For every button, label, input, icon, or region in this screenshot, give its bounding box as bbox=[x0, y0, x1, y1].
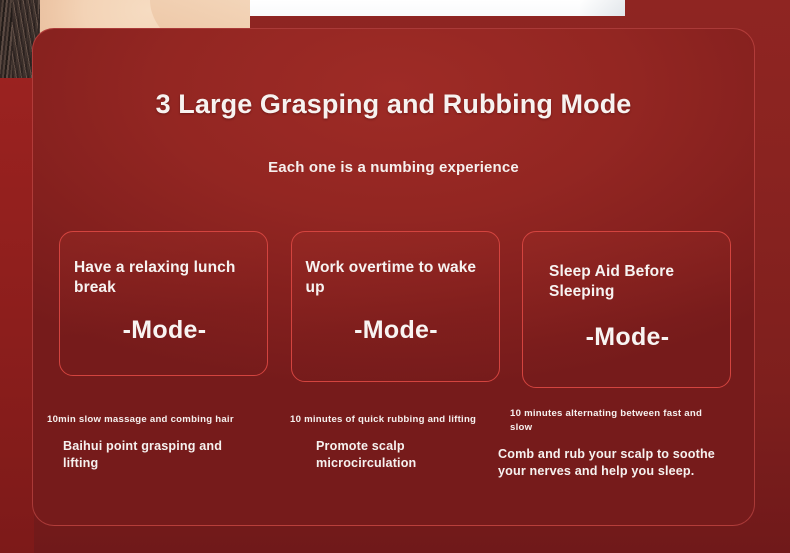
page-subtitle: Each one is a numbing experience bbox=[33, 159, 754, 176]
mode-card-sleep-aid[interactable]: Sleep Aid Before Sleeping -Mode- bbox=[522, 231, 731, 388]
mode-card-mode-label: -Mode- bbox=[74, 316, 255, 345]
mode-card-title: Sleep Aid Before Sleeping bbox=[549, 262, 718, 303]
caption-lunch-break: 10min slow massage and combing hair Baih… bbox=[47, 413, 287, 472]
mode-card-title: Have a relaxing lunch break bbox=[74, 258, 255, 299]
caption-work-overtime: 10 minutes of quick rubbing and lifting … bbox=[290, 413, 520, 472]
caption-benefit: Baihui point grasping and lifting bbox=[63, 438, 287, 472]
caption-benefit: Comb and rub your scalp to soothe your n… bbox=[498, 446, 748, 480]
caption-benefit: Promote scalp microcirculation bbox=[316, 438, 520, 472]
mode-card-work-overtime[interactable]: Work overtime to wake up -Mode- bbox=[291, 231, 500, 382]
mode-card-mode-label: -Mode- bbox=[549, 323, 706, 352]
page-title: 3 Large Grasping and Rubbing Mode bbox=[33, 89, 754, 120]
caption-duration: 10 minutes of quick rubbing and lifting bbox=[290, 413, 520, 427]
caption-duration: 10 minutes alternating between fast and … bbox=[510, 407, 736, 435]
mode-card-lunch-break[interactable]: Have a relaxing lunch break -Mode- bbox=[59, 231, 268, 376]
mode-card-mode-label: -Mode- bbox=[306, 316, 487, 345]
caption-sleep-aid: 10 minutes alternating between fast and … bbox=[498, 407, 748, 480]
promo-banner: 3 Large Grasping and Rubbing Mode Each o… bbox=[0, 0, 790, 553]
mode-card-list: Have a relaxing lunch break -Mode- Work … bbox=[59, 231, 731, 388]
caption-group: 10min slow massage and combing hair Baih… bbox=[0, 405, 790, 495]
caption-duration: 10min slow massage and combing hair bbox=[47, 413, 287, 427]
mode-card-title: Work overtime to wake up bbox=[306, 258, 487, 299]
